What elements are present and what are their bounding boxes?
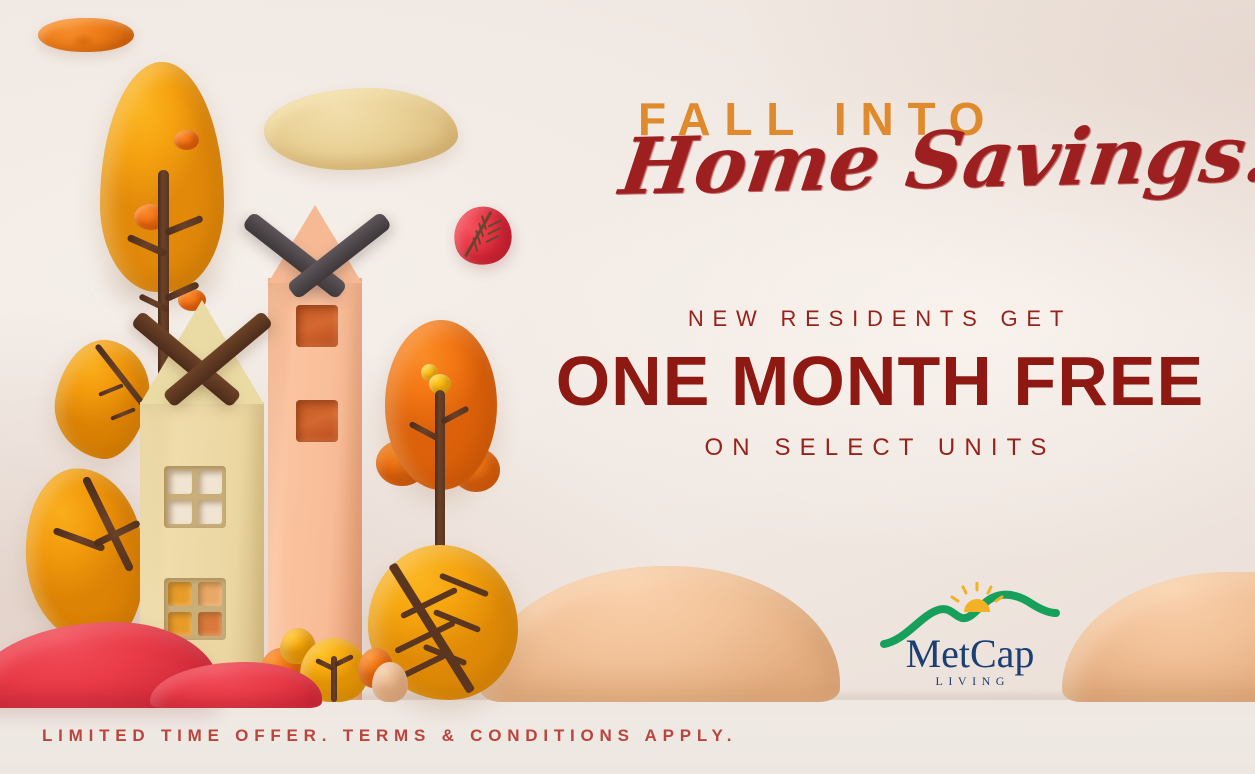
bush-beige xyxy=(372,662,408,702)
headline-script-line: Home Savings! xyxy=(616,115,1255,207)
promotional-banner: FALL INTO Home Savings! NEW RESIDENTS GE… xyxy=(0,0,1255,774)
offer-subtext: ON SELECT UNITS xyxy=(530,434,1230,462)
beige-house-gable xyxy=(140,300,264,404)
beige-house-window-upper xyxy=(164,466,226,528)
peach-tower-window-upper xyxy=(296,305,338,347)
beige-house-window-lower xyxy=(164,578,226,640)
offer-kicker: NEW RESIDENTS GET xyxy=(530,306,1230,332)
offer-block: NEW RESIDENTS GET ONE MONTH FREE ON SELE… xyxy=(530,306,1230,462)
logo-brand-name: MetCap xyxy=(880,634,1060,674)
peach-tower-window-lower xyxy=(296,400,338,442)
cream-cloud-icon xyxy=(264,88,458,170)
metcap-logo: MetCap LIVING xyxy=(880,582,1060,694)
headline-block: FALL INTO Home Savings! xyxy=(560,88,1200,218)
footer-disclaimer: LIMITED TIME OFFER. TERMS & CONDITIONS A… xyxy=(42,726,737,746)
logo-tagline: LIVING xyxy=(880,674,1060,689)
offer-headline: ONE MONTH FREE xyxy=(530,346,1230,416)
orange-blob-cloud-icon xyxy=(38,18,134,52)
